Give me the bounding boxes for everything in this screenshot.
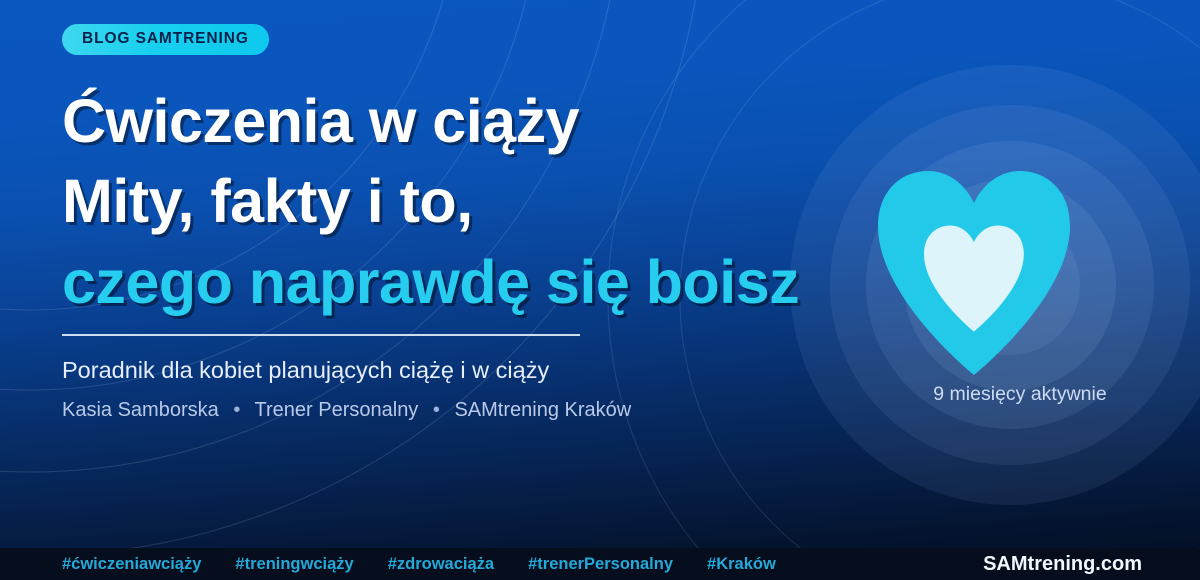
hashtag-list: #ćwiczeniawciąży #treningwciąży #zdrowac… [62,555,776,574]
byline-separator-2: • [424,399,449,421]
byline-separator-1: • [224,399,249,421]
banner-content: BLOG SAMTRENING Ćwiczenia w ciąży Mity, … [62,0,762,422]
heart-caption: 9 miesięcy aktywnie [820,383,1200,406]
hashtag-item[interactable]: #treningwciąży [235,555,353,574]
site-url[interactable]: SAMtrening.com [983,553,1142,576]
hashtag-item[interactable]: #ćwiczeniawciąży [62,555,201,574]
hashtag-item[interactable]: #trenerPersonalny [528,555,673,574]
blog-badge[interactable]: BLOG SAMTRENING [62,24,269,55]
headline-line-2: Mity, fakty i to, [62,161,762,242]
hashtag-item[interactable]: #zdrowaciąża [388,555,494,574]
subtitle: Poradnik dla kobiet planujących ciążę i … [62,356,762,384]
byline-author: Kasia Samborska [62,399,219,421]
byline-role: Trener Personalny [255,399,419,421]
byline-brand: SAMtrening Kraków [454,399,631,421]
footer-bar: #ćwiczeniawciąży #treningwciąży #zdrowac… [0,548,1200,580]
headline-line-1: Ćwiczenia w ciąży [62,81,762,162]
heart-graphic [878,170,1070,375]
byline: Kasia Samborska • Trener Personalny • SA… [62,398,762,422]
headline-line-3-accent: czego naprawdę się boisz [62,242,762,323]
blog-header-banner: BLOG SAMTRENING Ćwiczenia w ciąży Mity, … [0,0,1200,580]
page-title: Ćwiczenia w ciąży Mity, fakty i to, czeg… [62,81,762,323]
title-divider [62,334,580,336]
hashtag-item[interactable]: #Kraków [707,555,776,574]
